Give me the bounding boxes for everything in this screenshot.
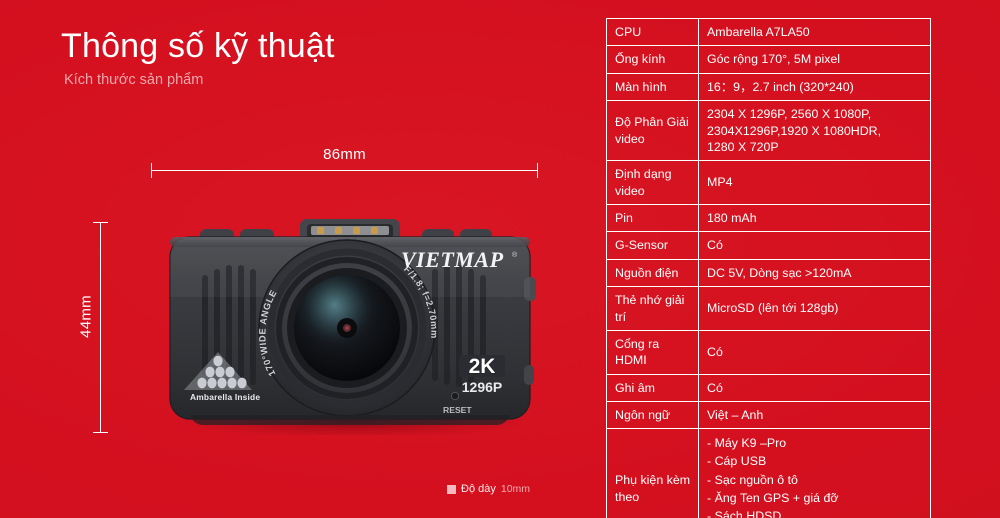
table-row: Ống kínhGóc rộng 170°, 5M pixel — [607, 46, 931, 73]
spec-key-cell: Độ Phân Giải video — [607, 101, 699, 161]
thickness-value: 10mm — [501, 483, 530, 495]
table-row: Thẻ nhớ giải tríMicroSD (lên tới 128gb) — [607, 287, 931, 331]
svg-text:2K: 2K — [469, 355, 496, 378]
height-dimension: 44mm — [78, 222, 110, 434]
spec-value-cell: Ambarella A7LA50 — [699, 19, 931, 46]
width-dimension-label: 86mm — [151, 146, 538, 163]
spec-key-cell: Phụ kiện kèm theo — [607, 429, 699, 518]
spec-value-cell: DC 5V, Dòng sạc >120mA — [699, 259, 931, 286]
svg-text:Ambarella Inside: Ambarella Inside — [190, 392, 260, 402]
width-tick-left-icon — [151, 163, 152, 178]
spec-value-text: MicroSD (lên tới 128gb) — [707, 301, 838, 315]
spec-key-cell: Ngôn ngữ — [607, 402, 699, 429]
spec-value-text: - Máy K9 –Pro - Cáp USB - Sạc nguồn ô tô… — [707, 436, 841, 518]
table-row: Phụ kiện kèm theo- Máy K9 –Pro - Cáp USB… — [607, 429, 931, 518]
spec-value-cell: - Máy K9 –Pro - Cáp USB - Sạc nguồn ô tô… — [699, 429, 931, 518]
spec-value-cell: Có — [699, 374, 931, 401]
spec-value-cell: Có — [699, 232, 931, 259]
table-row: G-SensorCó — [607, 232, 931, 259]
spec-value-cell: 180 mAh — [699, 205, 931, 232]
spec-value-text: Ambarella A7LA50 — [707, 25, 810, 39]
spec-key-cell: Màn hình — [607, 73, 699, 100]
spec-value-cell: Góc rộng 170°, 5M pixel — [699, 46, 931, 73]
table-row: Ghi âmCó — [607, 374, 931, 401]
spec-value-text: Có — [707, 381, 723, 395]
svg-text:VIETMAP: VIETMAP — [401, 247, 504, 272]
spec-value-text: MP4 — [707, 175, 732, 189]
brand-logo: VIETMAP ® — [401, 247, 518, 272]
svg-text:®: ® — [512, 251, 518, 259]
height-tick-bottom-icon — [93, 432, 108, 433]
page-title: Thông số kỹ thuật — [61, 27, 335, 66]
spec-value-text: Có — [707, 238, 723, 252]
thickness-label: Độ dày — [461, 483, 496, 495]
spec-value-text: Việt – Anh — [707, 408, 763, 422]
width-tick-right-icon — [537, 163, 538, 178]
resolution-badge: 2K 1296P — [459, 355, 505, 395]
table-row: CPUAmbarella A7LA50 — [607, 19, 931, 46]
reset-pinhole-icon — [451, 392, 458, 399]
spec-value-text: 2304 X 1296P, 2560 X 1080P, 2304X1296P,1… — [707, 107, 881, 154]
specifications-table: CPUAmbarella A7LA50Ống kínhGóc rộng 170°… — [606, 18, 931, 518]
spec-value-text: Góc rộng 170°, 5M pixel — [707, 52, 840, 66]
spec-key-cell: Ống kính — [607, 46, 699, 73]
width-dimension-line — [151, 170, 538, 171]
spec-value-cell: MP4 — [699, 161, 931, 205]
spec-key-cell: CPU — [607, 19, 699, 46]
page-subtitle: Kích thước sản phẩm — [64, 72, 203, 88]
table-row: Ngôn ngữViệt – Anh — [607, 402, 931, 429]
spec-key-cell: Pin — [607, 205, 699, 232]
spec-value-cell: 16：9，2.7 inch (320*240) — [699, 73, 931, 100]
spec-value-cell: MicroSD (lên tới 128gb) — [699, 287, 931, 331]
height-dimension-label: 44mm — [78, 279, 95, 355]
product-dimensions-panel: Thông số kỹ thuật Kích thước sản phẩm 86… — [0, 0, 600, 518]
spec-value-text: 180 mAh — [707, 211, 757, 225]
dashcam-product-image: 170°WIDE ANGLE F/1.8; f=2.70mm VIETMAP ® — [160, 215, 540, 435]
height-tick-top-icon — [93, 222, 108, 223]
spec-value-cell: Có — [699, 330, 931, 374]
spec-value-cell: 2304 X 1296P, 2560 X 1080P, 2304X1296P,1… — [699, 101, 931, 161]
spec-key-cell: Nguồn điện — [607, 259, 699, 286]
svg-text:1296P: 1296P — [462, 379, 502, 395]
table-row: Pin180 mAh — [607, 205, 931, 232]
spec-key-cell: Định dạng video — [607, 161, 699, 205]
spec-value-text: Có — [707, 345, 723, 359]
specifications-table-container: CPUAmbarella A7LA50Ống kínhGóc rộng 170°… — [606, 18, 930, 518]
spec-value-text: 16：9，2.7 inch (320*240) — [707, 80, 854, 94]
spec-key-cell: Thẻ nhớ giải trí — [607, 287, 699, 331]
table-row: Màn hình16：9，2.7 inch (320*240) — [607, 73, 931, 100]
table-row: Độ Phân Giải video2304 X 1296P, 2560 X 1… — [607, 101, 931, 161]
spec-key-cell: Cổng ra HDMI — [607, 330, 699, 374]
height-dimension-line — [100, 222, 101, 433]
width-dimension: 86mm — [151, 146, 538, 176]
svg-text:RESET: RESET — [443, 405, 472, 415]
spec-value-cell: Việt – Anh — [699, 402, 931, 429]
spec-value-text: DC 5V, Dòng sạc >120mA — [707, 266, 852, 280]
spec-key-cell: Ghi âm — [607, 374, 699, 401]
thickness-swatch-icon — [447, 485, 456, 494]
table-row: Cổng ra HDMICó — [607, 330, 931, 374]
side-button-2-icon — [524, 365, 534, 385]
spec-key-cell: G-Sensor — [607, 232, 699, 259]
table-row: Nguồn điệnDC 5V, Dòng sạc >120mA — [607, 259, 931, 286]
thickness-note: Độ dày 10mm — [447, 483, 530, 495]
table-row: Định dạng videoMP4 — [607, 161, 931, 205]
